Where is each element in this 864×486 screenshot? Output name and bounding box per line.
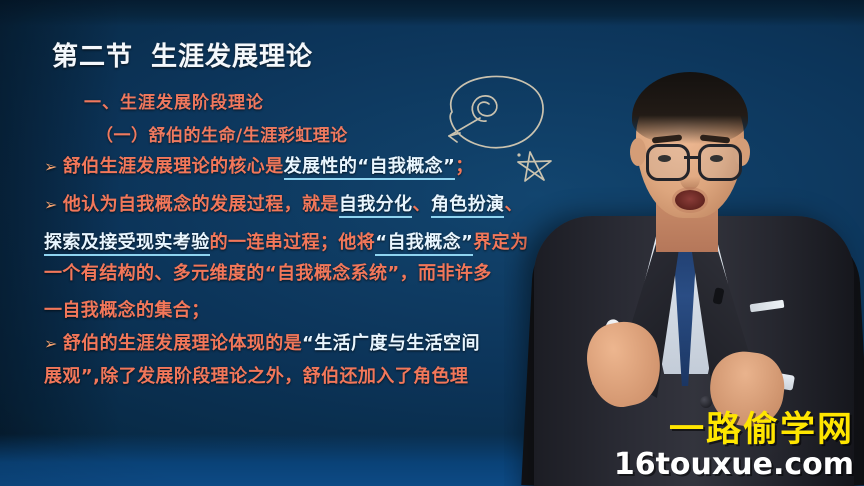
presenter-hair	[632, 72, 748, 144]
bullet-marker-icon: ➢	[44, 334, 58, 353]
body-text-run: 的一连串过程；他将	[210, 232, 376, 253]
body-text-run: 他认为自我概念的发展过程，就是	[63, 194, 339, 215]
slide-title: 第二节生涯发展理论	[52, 36, 313, 73]
slide-bullet-line-6: ➢舒伯的生涯发展理论体现的是“生活广度与生活空间	[44, 329, 480, 355]
slide-heading-level-1: 一、生涯发展阶段理论	[84, 88, 264, 113]
presenter-nose	[680, 168, 700, 190]
presenter-eyeglass-bridge	[684, 156, 698, 159]
bullet-marker-icon: ➢	[44, 157, 58, 176]
presenter-mouth	[675, 190, 705, 210]
highlighted-phrase: “自我概念”	[375, 232, 473, 256]
highlighted-phrase: 自我分化	[339, 194, 413, 218]
slide-bullet-line-4: 一个有结构的、多元维度的“自我概念系统”，而非许多	[44, 259, 492, 285]
body-text-run: 、	[412, 194, 430, 215]
body-text-run: 舒伯的生涯发展理论体现的是	[63, 333, 302, 354]
highlighted-phrase: “生活广度与生活空间	[302, 333, 480, 354]
slide-bullet-line-7: 展观”,除了发展阶段理论之外，舒伯还加入了角色理	[44, 362, 468, 388]
presenter-ear-left	[630, 138, 646, 166]
slide-title-section: 第二节	[52, 42, 133, 72]
site-watermark: 一路偷学网 16touxue.com	[614, 413, 854, 480]
bullet-marker-icon: ➢	[44, 195, 58, 214]
body-text-run: 一自我概念的集合；	[44, 300, 210, 321]
body-text-run: 一个有结构的、多元维度的“自我概念系统”，而非许多	[44, 263, 492, 284]
highlighted-phrase: 发展性的“自我概念”	[284, 156, 456, 180]
highlighted-phrase: 探索及接受现实考验	[44, 232, 210, 256]
slide-bullet-line-2: ➢他认为自我概念的发展过程，就是自我分化、角色扮演、	[44, 190, 523, 216]
slide-heading-level-2: （一）舒伯的生命/生涯彩虹理论	[96, 121, 348, 146]
watermark-site-name: 一路偷学网	[614, 413, 854, 448]
slide-title-topic: 生涯发展理论	[151, 42, 313, 72]
presenter-eyeglass-lens-right	[698, 144, 742, 181]
watermark-site-url: 16touxue.com	[614, 450, 854, 480]
highlighted-phrase: 角色扮演	[431, 194, 505, 218]
slide-bullet-line-5: 一自我概念的集合；	[44, 296, 210, 322]
body-text-run: 舒伯生涯发展理论的核心是	[63, 156, 284, 177]
body-text-run: 展观”,除了发展阶段理论之外，舒伯还加入了角色理	[44, 366, 468, 387]
slide-bullet-line-1: ➢舒伯生涯发展理论的核心是发展性的“自我概念”；	[44, 152, 474, 178]
slide-bullet-line-3: 探索及接受现实考验的一连串过程；他将“自我概念”界定为	[44, 228, 528, 254]
lecture-video-frame: 第二节生涯发展理论 一、生涯发展阶段理论 （一）舒伯的生命/生涯彩虹理论 ➢舒伯…	[0, 0, 864, 486]
body-text-run: ；	[455, 156, 473, 177]
